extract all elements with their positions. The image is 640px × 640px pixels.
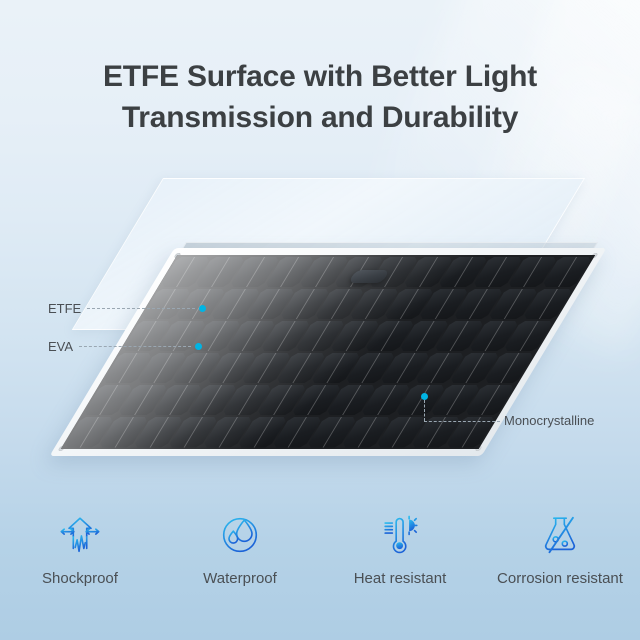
leader-line-vertical — [424, 400, 425, 421]
callout-etfe: ETFE — [48, 301, 206, 316]
callout-etfe-label: ETFE — [48, 301, 81, 316]
feature-corrosion-resistant: Corrosion resistant — [480, 512, 640, 587]
feature-heat-resistant: Heat resistant — [320, 512, 480, 587]
callout-dot-icon — [199, 305, 206, 312]
feature-waterproof: Waterproof — [160, 512, 320, 587]
feature-shockproof-label: Shockproof — [42, 570, 118, 587]
leader-line — [87, 308, 195, 309]
callout-monocrystalline-label: Monocrystalline — [504, 413, 594, 428]
heat-resistant-icon — [377, 512, 423, 558]
corrosion-resistant-icon — [537, 512, 583, 558]
infographic-root: ETFE Surface with Better Light Transmiss… — [0, 0, 640, 640]
feature-row: Shockproof Waterproof — [0, 512, 640, 587]
headline: ETFE Surface with Better Light Transmiss… — [0, 56, 640, 138]
shockproof-icon — [57, 512, 103, 558]
waterproof-icon — [217, 512, 263, 558]
feature-heat-resistant-label: Heat resistant — [354, 570, 447, 587]
callout-dot-icon — [195, 343, 202, 350]
leader-line — [79, 346, 191, 347]
feature-shockproof: Shockproof — [0, 512, 160, 587]
headline-line-2: Transmission and Durability — [0, 97, 640, 138]
leader-line-horizontal — [424, 421, 500, 422]
callout-eva-label: EVA — [48, 339, 73, 354]
feature-corrosion-resistant-label: Corrosion resistant — [497, 570, 623, 587]
callout-eva: EVA — [48, 339, 202, 354]
headline-line-1: ETFE Surface with Better Light — [0, 56, 640, 97]
callout-dot-icon — [421, 393, 428, 400]
feature-waterproof-label: Waterproof — [203, 570, 277, 587]
solar-panel-exploded-diagram — [0, 170, 640, 500]
